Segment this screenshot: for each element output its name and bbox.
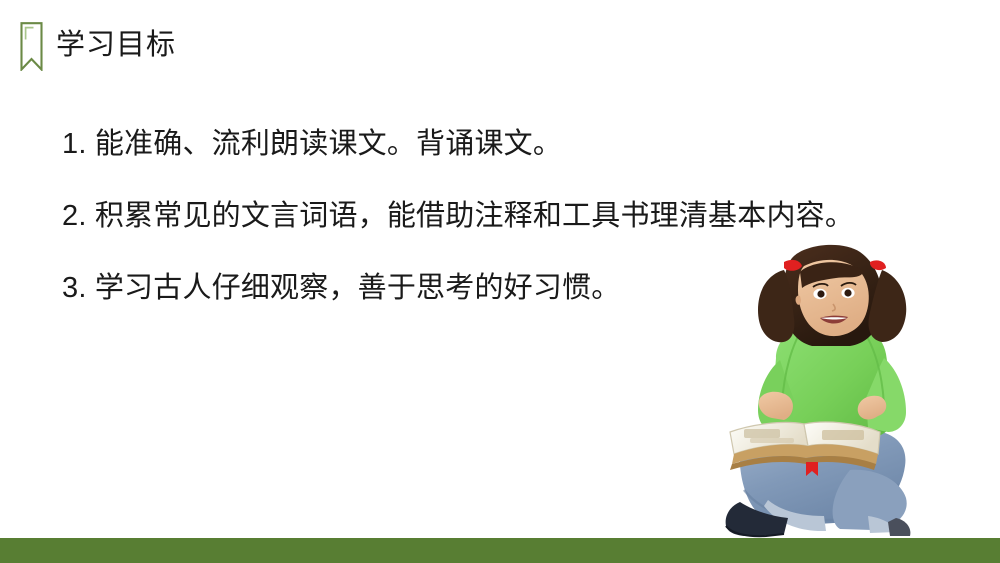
footer-band <box>0 538 1000 563</box>
bookmark-icon <box>20 22 43 71</box>
list-item: 1. 能准确、流利朗读课文。背诵课文。 <box>62 122 942 166</box>
list-item: 2. 积累常见的文言词语，能借助注释和工具书理清基本内容。 <box>62 194 942 238</box>
slide-header: 学习目标 <box>0 0 1000 92</box>
girl-reading-photo <box>700 240 960 545</box>
slide-canvas: 学习目标 1. 能准确、流利朗读课文。背诵课文。 2. 积累常见的文言词语，能借… <box>0 0 1000 563</box>
page-title: 学习目标 <box>56 25 176 65</box>
